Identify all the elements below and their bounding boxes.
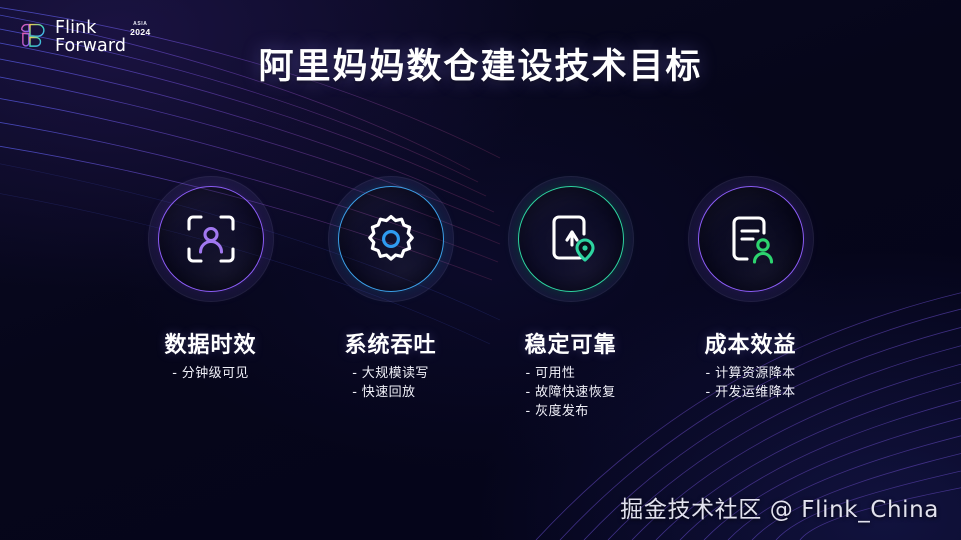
card-title: 成本效益 [704,327,796,359]
bullet-item: - 开发运维降本 [705,385,795,401]
person-scan-frame-icon [184,212,238,266]
goal-card-system-throughput: 系统吞吐 - 大规模读写 - 快速回放 [301,176,481,420]
bullet-item: - 故障快速恢复 [525,385,615,401]
logo-line-1: Flink [55,20,126,38]
card-bullets: - 分钟级可见 [172,366,249,382]
goal-card-data-timeliness: 数据时效 - 分钟级可见 [121,176,301,420]
document-person-icon [725,212,777,266]
logo-edition-badge: ASIA 2024 [130,21,151,37]
page-title: 阿里妈妈数仓建设技术目标 [0,38,961,89]
gear-settings-icon [365,213,417,265]
icon-badge [148,176,274,302]
bullet-item: - 可用性 [525,366,615,382]
card-bullets: - 大规模读写 - 快速回放 [352,366,429,401]
bullet-item: - 灰度发布 [525,404,615,420]
card-bullets: - 计算资源降本 - 开发运维降本 [705,366,795,401]
presentation-slide: Flink Forward ASIA 2024 阿里妈妈数仓建设技术目标 [0,0,961,540]
goal-card-row: 数据时效 - 分钟级可见 系统吞吐 - 大规模读写 - 快速回放 [0,176,961,420]
card-title: 系统吞吐 [344,327,436,359]
bullet-item: - 大规模读写 [352,366,429,382]
document-arrow-location-pin-icon [545,212,597,266]
goal-card-stability: 稳定可靠 - 可用性 - 故障快速恢复 - 灰度发布 [481,176,661,420]
card-title: 稳定可靠 [524,327,616,359]
bullet-item: - 快速回放 [352,385,429,401]
card-bullets: - 可用性 - 故障快速恢复 - 灰度发布 [525,366,615,420]
goal-card-cost-efficiency: 成本效益 - 计算资源降本 - 开发运维降本 [661,176,841,420]
bullet-item: - 计算资源降本 [705,366,795,382]
watermark-text: 掘金技术社区 @ Flink_China [620,490,939,524]
icon-badge [688,176,814,302]
icon-badge [328,176,454,302]
bullet-item: - 分钟级可见 [172,366,249,382]
card-title: 数据时效 [164,327,256,359]
logo-year-label: 2024 [130,27,151,37]
icon-badge [508,176,634,302]
